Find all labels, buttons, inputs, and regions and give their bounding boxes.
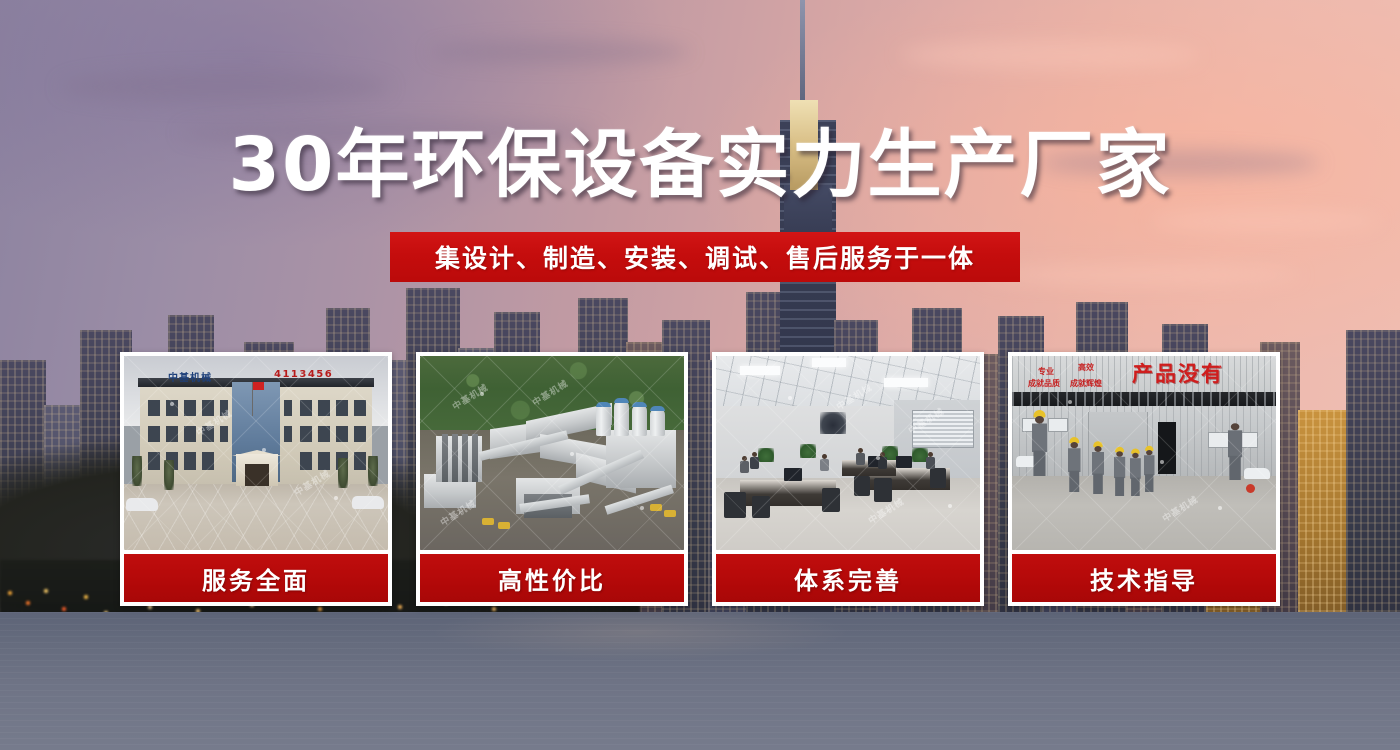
water-shimmer (0, 612, 1400, 750)
feature-card[interactable]: 中基机械 中基机械 中基机械 体系完善 (712, 352, 984, 606)
card-photo-office-building: 中基机械 4113456 (124, 356, 388, 550)
card-caption-bar: 技术指导 (1012, 554, 1276, 602)
card-caption-bar: 体系完善 (716, 554, 980, 602)
card-caption-text: 体系完善 (794, 561, 902, 596)
factory-slogan-text: 成就辉煌 (1070, 378, 1102, 389)
card-photo-office-interior: 中基机械 中基机械 中基机械 (716, 356, 980, 550)
page-title: 30年环保设备实力生产厂家 (0, 126, 1400, 206)
subtitle-banner: 集设计、制造、安装、调试、售后服务于一体 (390, 232, 1020, 282)
card-caption-text: 技术指导 (1090, 561, 1198, 596)
feature-card[interactable]: 中基机械 4113456 (120, 352, 392, 606)
building-phone-text: 4113456 (274, 369, 333, 380)
subtitle-text: 集设计、制造、安装、调试、售后服务于一体 (435, 239, 975, 275)
tower-spire (800, 0, 805, 100)
factory-slogan-text: 高效 (1078, 362, 1094, 373)
feature-card-list: 中基机械 4113456 (120, 352, 1280, 606)
feature-card[interactable]: 中基机械 中基机械 中基机械 高性价比 (416, 352, 688, 606)
wall-emblem (820, 412, 846, 434)
building-logo-text: 中基机械 (168, 369, 212, 384)
card-caption-text: 高性价比 (498, 561, 606, 596)
card-photo-industrial-plant: 中基机械 中基机械 中基机械 (420, 356, 684, 550)
card-caption-text: 服务全面 (202, 561, 310, 596)
factory-sign-text: 产品没有 (1132, 358, 1224, 388)
banner-stage: 30年环保设备实力生产厂家 集设计、制造、安装、调试、售后服务于一体 (0, 0, 1400, 750)
factory-slogan-text: 成就品质 (1028, 378, 1060, 389)
factory-slogan-text: 专业 (1038, 366, 1054, 377)
card-caption-bar: 高性价比 (420, 554, 684, 602)
feature-card[interactable]: 产品没有 专业 高效 成就品质 成就辉煌 (1008, 352, 1280, 606)
card-photo-factory-workers: 产品没有 专业 高效 成就品质 成就辉煌 (1012, 356, 1276, 550)
card-caption-bar: 服务全面 (124, 554, 388, 602)
